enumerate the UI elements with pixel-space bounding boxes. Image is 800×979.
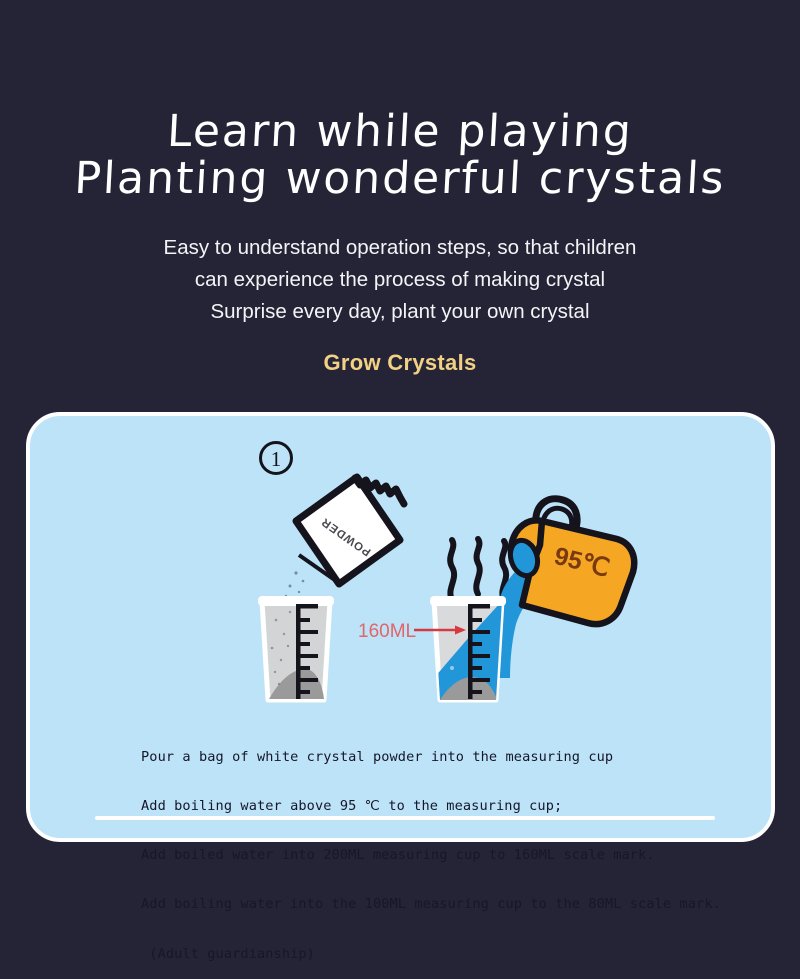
instruction-line-5: (Adult guardianship) xyxy=(141,946,771,962)
instruction-line-4: Add boiling water into the 100ML measuri… xyxy=(141,896,771,912)
bottom-divider xyxy=(95,816,715,820)
instruction-line-3: Add boiled water into 200ML measuring cu… xyxy=(141,847,771,863)
instruction-line-1: Pour a bag of white crystal powder into … xyxy=(141,749,771,765)
subtitle-line-2: can experience the process of making cry… xyxy=(0,268,800,292)
headline-line-2: Planting wonderful crystals xyxy=(0,156,800,202)
step-number-badge: 1 xyxy=(259,441,293,475)
section-title: Grow Crystals xyxy=(0,350,800,376)
headline-line-1: Learn while playing xyxy=(0,109,800,155)
subtitle-line-1: Easy to understand operation steps, so t… xyxy=(0,236,800,260)
instruction-line-2: Add boiling water above 95 ℃ to the meas… xyxy=(141,798,771,814)
instructions-block: Pour a bag of white crystal powder into … xyxy=(141,716,771,979)
subtitle-line-3: Surprise every day, plant your own cryst… xyxy=(0,300,800,324)
